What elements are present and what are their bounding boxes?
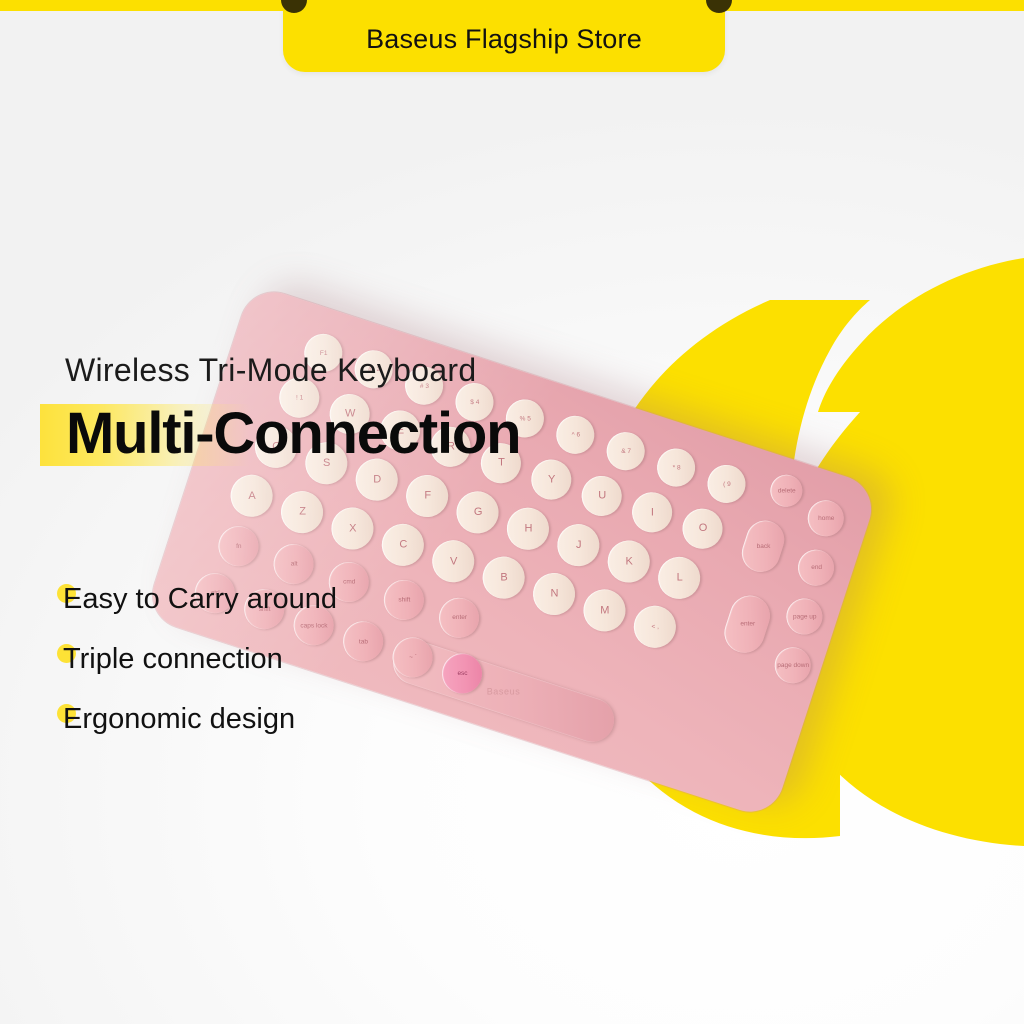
key-a: A bbox=[225, 469, 278, 522]
key-label: I bbox=[651, 508, 654, 517]
key-label: K bbox=[625, 557, 632, 566]
key-label: U bbox=[598, 491, 606, 500]
key-g: G bbox=[451, 486, 504, 539]
product-banner: Baseus ctrlshiftcaps locktab~ `escfnaltc… bbox=[0, 0, 1024, 1024]
key-z: Z bbox=[276, 486, 329, 539]
key-label: page up bbox=[793, 612, 817, 621]
key-tab: tab bbox=[338, 616, 388, 666]
top-accent-strip bbox=[0, 0, 1024, 11]
key-home: home bbox=[803, 496, 848, 541]
key-label: G bbox=[473, 508, 482, 517]
key-page-down: page down bbox=[770, 643, 815, 688]
key-label: shift bbox=[398, 595, 410, 604]
key-label: J bbox=[576, 541, 582, 550]
key-h: H bbox=[501, 502, 554, 555]
key-b: B bbox=[477, 551, 530, 604]
key-o: O bbox=[677, 504, 727, 554]
key-label: * 8 bbox=[672, 463, 680, 472]
key-k: K bbox=[602, 535, 655, 588]
list-item: Triple connection bbox=[63, 638, 337, 698]
key-label: delete bbox=[777, 486, 795, 495]
product-subtitle: Wireless Tri-Mode Keyboard bbox=[65, 352, 477, 389]
key-label: back bbox=[756, 542, 770, 551]
key-label: H bbox=[524, 524, 532, 533]
key-label: alt bbox=[290, 560, 297, 569]
feature-label: Triple connection bbox=[63, 643, 283, 675]
key-label: O bbox=[698, 524, 707, 533]
key-label: A bbox=[248, 491, 255, 500]
key--6: ^ 6 bbox=[551, 411, 599, 459]
key-enter: enter bbox=[434, 593, 484, 643]
feature-label: Ergonomic design bbox=[63, 703, 295, 735]
key-label: enter bbox=[452, 613, 467, 622]
key-label: X bbox=[349, 524, 356, 533]
key-label: F bbox=[424, 492, 431, 501]
key-label: N bbox=[550, 590, 558, 599]
key-label: home bbox=[818, 514, 834, 523]
key-v: V bbox=[427, 535, 480, 588]
list-item: Easy to Carry around bbox=[63, 578, 337, 638]
key-i: I bbox=[627, 487, 677, 537]
store-name-label: Baseus Flagship Store bbox=[366, 24, 642, 55]
key-label: V bbox=[450, 557, 457, 566]
key-label: C bbox=[399, 540, 407, 549]
key-label: ~ ` bbox=[409, 653, 417, 662]
key--8: * 8 bbox=[652, 444, 700, 492]
headline-group: Multi-Connection bbox=[40, 398, 520, 468]
key-label: % 5 bbox=[519, 414, 530, 423]
key-label: M bbox=[600, 606, 609, 615]
brand-logo-baseus: Baseus bbox=[487, 686, 521, 696]
key-enter: enter bbox=[719, 590, 775, 658]
key-m: M bbox=[578, 584, 631, 637]
key-label: L bbox=[676, 573, 682, 582]
key-label: & 7 bbox=[621, 447, 631, 456]
key-u: U bbox=[577, 471, 627, 521]
key-label: fn bbox=[236, 542, 241, 551]
key-c: C bbox=[376, 518, 429, 571]
key-label: cmd bbox=[343, 578, 355, 587]
key-label: D bbox=[373, 475, 381, 484]
feature-label: Easy to Carry around bbox=[63, 583, 337, 615]
key-l: L bbox=[653, 551, 706, 604]
key-x: X bbox=[326, 502, 379, 555]
key-label: esc bbox=[457, 669, 467, 678]
key-label: Y bbox=[548, 475, 555, 484]
key-j: J bbox=[552, 519, 605, 572]
key-label: < , bbox=[651, 622, 658, 631]
key-f: F bbox=[401, 470, 454, 523]
key-label: ^ 6 bbox=[571, 430, 579, 439]
key-end: end bbox=[793, 545, 838, 590]
list-item: Ergonomic design bbox=[63, 698, 337, 758]
key-shift: shift bbox=[379, 575, 429, 625]
page-title: Multi-Connection bbox=[66, 398, 520, 470]
key-delete: delete bbox=[766, 471, 806, 511]
key-label: enter bbox=[740, 620, 755, 629]
key-fn: fn bbox=[213, 521, 263, 571]
key-label: ( 9 bbox=[723, 479, 731, 488]
key-label: Z bbox=[299, 508, 306, 517]
feature-list: Easy to Carry around Triple connection E… bbox=[63, 578, 337, 758]
key-back: back bbox=[737, 516, 789, 577]
key-page-up: page up bbox=[782, 594, 827, 639]
key-label: end bbox=[811, 563, 822, 572]
key-n: N bbox=[528, 568, 581, 621]
key--9: ( 9 bbox=[703, 460, 751, 508]
key-y: Y bbox=[526, 454, 576, 504]
key-label: tab bbox=[359, 637, 368, 646]
key--7: & 7 bbox=[602, 427, 650, 475]
key--: < , bbox=[628, 600, 681, 653]
key-label: B bbox=[500, 573, 507, 582]
key-label: page down bbox=[777, 661, 809, 670]
